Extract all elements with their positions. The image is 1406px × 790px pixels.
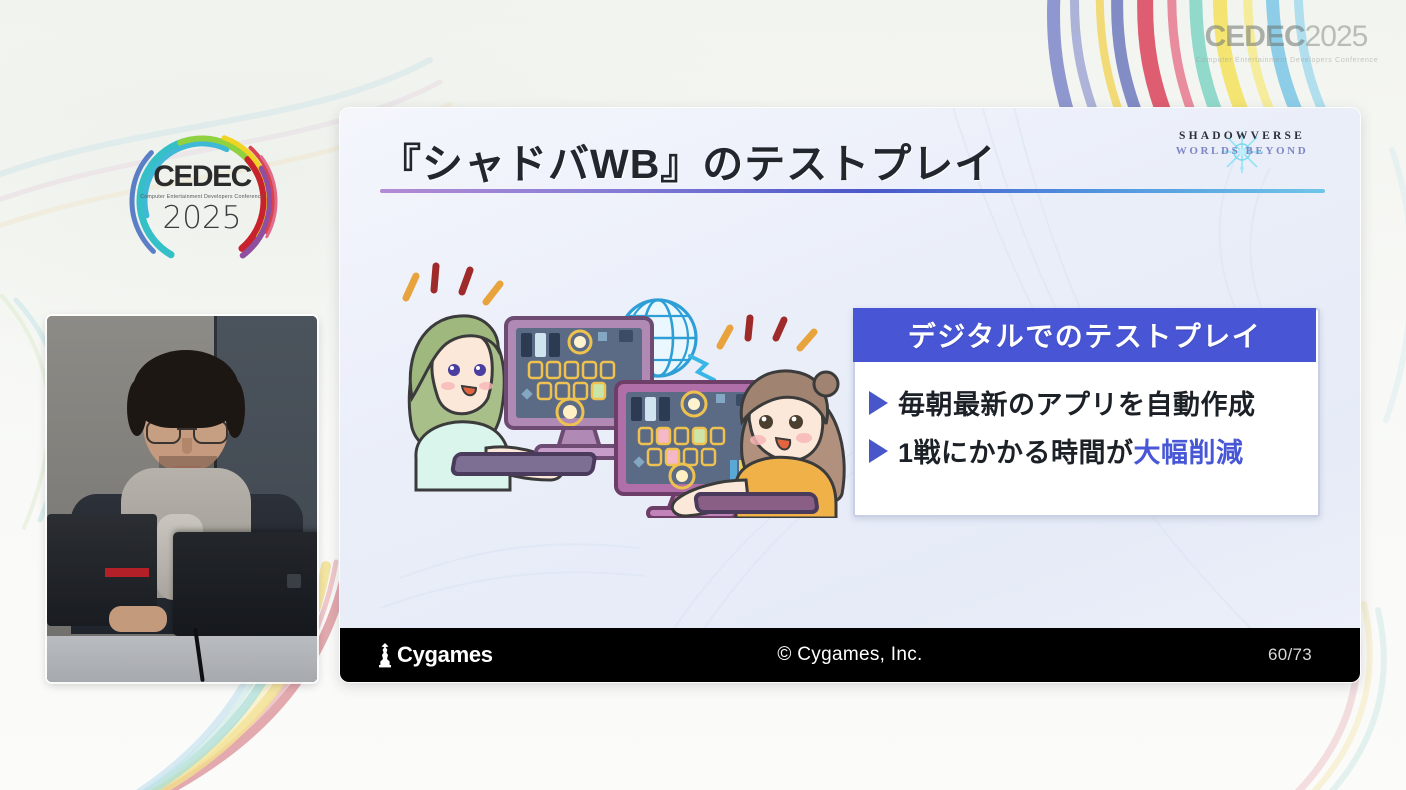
info-panel: デジタルでのテストプレイ 毎朝最新のアプリを自動作成 1戦にかかる時間が大幅削減 (853, 308, 1320, 517)
cedec-circle-name: CEDEC (120, 162, 284, 192)
cedec-circle-logo: CEDEC Computer Entertainment Developers … (120, 124, 284, 278)
cedec-wordmark-year: 2025 (1305, 20, 1368, 53)
speaker-hand (109, 606, 167, 632)
cam-laptop (173, 532, 317, 636)
shadowverse-worlds-beyond-logo: SHADOWVERSE WORLDS BEYOND (1162, 126, 1322, 176)
triangle-bullet-icon (869, 391, 888, 415)
triangle-bullet-icon (869, 439, 888, 463)
slide-content: 『シャドバWB』のテストプレイ SHADOWVERSE WORLDS BEYON… (340, 108, 1360, 628)
cam-red-label (105, 568, 149, 577)
info-bullet-2-text: 1戦にかかる時間が大幅削減 (898, 431, 1244, 470)
copyright-text: © Cygames, Inc. (340, 644, 1360, 666)
title-underline (380, 189, 1325, 193)
speaker-video-feed[interactable] (47, 316, 317, 682)
info-bullet-1-text: 毎朝最新のアプリを自動作成 (898, 383, 1256, 422)
illustration-svg (390, 258, 860, 518)
slide-title: 『シャドバWB』のテストプレイ (380, 130, 996, 190)
shadowverse-title: SHADOWVERSE (1162, 130, 1322, 142)
laptop-logo (287, 574, 301, 588)
cedec-circle-text: CEDEC Computer Entertainment Developers … (120, 162, 284, 234)
presentation-slide[interactable]: 『シャドバWB』のテストプレイ SHADOWVERSE WORLDS BEYON… (340, 108, 1360, 682)
shadowverse-subtitle: WORLDS BEYOND (1162, 145, 1322, 157)
excitement-marks-left (406, 266, 500, 302)
speaker-hair (133, 350, 239, 428)
glasses-bridge (177, 428, 197, 430)
page-number: 60/73 (1268, 645, 1312, 665)
info-bullet-2-plain: 1戦にかかる時間が (898, 438, 1134, 468)
speaker-nose (182, 438, 192, 454)
info-panel-header: デジタルでのテストプレイ (853, 308, 1316, 362)
cedec-wordmark-name: CEDEC (1205, 20, 1305, 53)
cam-desk (47, 636, 317, 682)
info-panel-bullets: 毎朝最新のアプリを自動作成 1戦にかかる時間が大幅削減 (855, 366, 1318, 470)
cedec-wordmark-tagline: Computer Entertainment Developers Confer… (1196, 55, 1376, 64)
testplay-illustration (390, 258, 860, 518)
cedec-wordmark-logo: CEDEC2025 Computer Entertainment Develop… (1196, 22, 1376, 70)
cedec-wordmark-main: CEDEC2025 (1196, 22, 1376, 52)
info-bullet-2-highlight: 大幅削減 (1134, 438, 1244, 468)
info-bullet-2: 1戦にかかる時間が大幅削減 (869, 431, 1318, 470)
cedec-circle-year: 2025 (120, 203, 284, 234)
info-bullet-1: 毎朝最新のアプリを自動作成 (869, 383, 1318, 422)
slide-footer: Cygames © Cygames, Inc. 60/73 (340, 628, 1360, 682)
excitement-marks-right (720, 318, 814, 348)
